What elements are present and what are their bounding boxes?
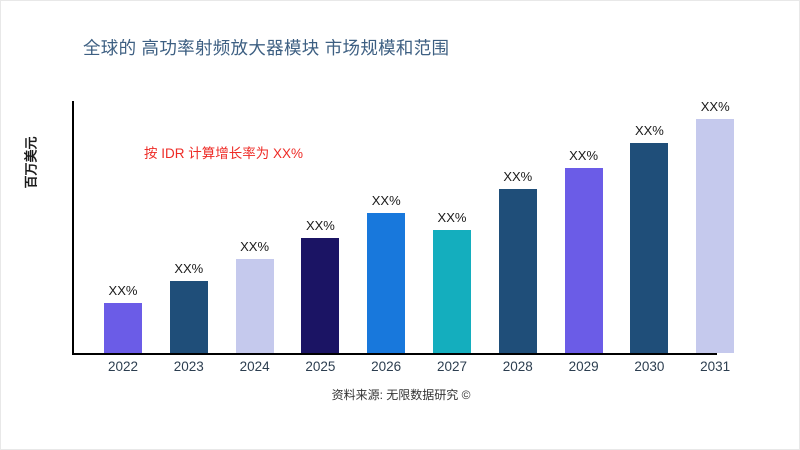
x-tick-label-2029: 2029: [550, 359, 617, 374]
bar-value-label-2028: XX%: [503, 169, 532, 184]
x-tick-label-2022: 2022: [90, 359, 157, 374]
bar-value-label-2023: XX%: [174, 261, 203, 276]
bar-value-label-2030: XX%: [635, 123, 664, 138]
bar-slot: XX%: [682, 101, 749, 353]
bar-slot: XX%: [221, 101, 288, 353]
bar-2025[interactable]: [301, 238, 339, 353]
bar-slot: XX%: [287, 101, 354, 353]
x-tick-label-2031: 2031: [682, 359, 749, 374]
bar-2028[interactable]: [499, 189, 537, 353]
x-tick-label-2027: 2027: [419, 359, 486, 374]
bar-value-label-2031: XX%: [701, 99, 730, 114]
plot-area: XX%XX%XX%XX%XX%XX%XX%XX%XX%XX%: [72, 101, 790, 353]
bar-2027[interactable]: [433, 230, 471, 353]
bar-value-label-2027: XX%: [438, 210, 467, 225]
bar-2023[interactable]: [170, 281, 208, 353]
page-title: 全球的 高功率射频放大器模块 市场规模和范围: [83, 35, 449, 60]
bar-value-label-2025: XX%: [306, 218, 335, 233]
bar-slot: XX%: [419, 101, 486, 353]
bar-2024[interactable]: [236, 259, 274, 353]
bar-slot: XX%: [90, 101, 157, 353]
y-axis-label: 百万美元: [21, 113, 40, 213]
bar-slot: XX%: [484, 101, 551, 353]
x-tick-label-2026: 2026: [353, 359, 420, 374]
chart-figure: 全球的 高功率射频放大器模块 市场规模和范围 百万美元 按 IDR 计算增长率为…: [0, 0, 800, 450]
bar-2031[interactable]: [696, 119, 734, 353]
bar-2030[interactable]: [630, 143, 668, 353]
x-axis-line: [72, 353, 717, 355]
bar-2029[interactable]: [565, 168, 603, 353]
x-tick-label-2030: 2030: [616, 359, 683, 374]
bar-slot: XX%: [353, 101, 420, 353]
x-tick-label-2023: 2023: [155, 359, 222, 374]
source-note: 资料来源: 无限数据研究 ©: [1, 386, 800, 403]
bar-2022[interactable]: [104, 303, 142, 353]
bar-value-label-2024: XX%: [240, 239, 269, 254]
bar-slot: XX%: [550, 101, 617, 353]
x-tick-label-2025: 2025: [287, 359, 354, 374]
bar-2026[interactable]: [367, 213, 405, 353]
bar-value-label-2022: XX%: [109, 283, 138, 298]
x-tick-label-2024: 2024: [221, 359, 288, 374]
x-tick-label-2028: 2028: [484, 359, 551, 374]
bar-value-label-2029: XX%: [569, 148, 598, 163]
bar-slot: XX%: [616, 101, 683, 353]
bar-value-label-2026: XX%: [372, 193, 401, 208]
bar-slot: XX%: [155, 101, 222, 353]
